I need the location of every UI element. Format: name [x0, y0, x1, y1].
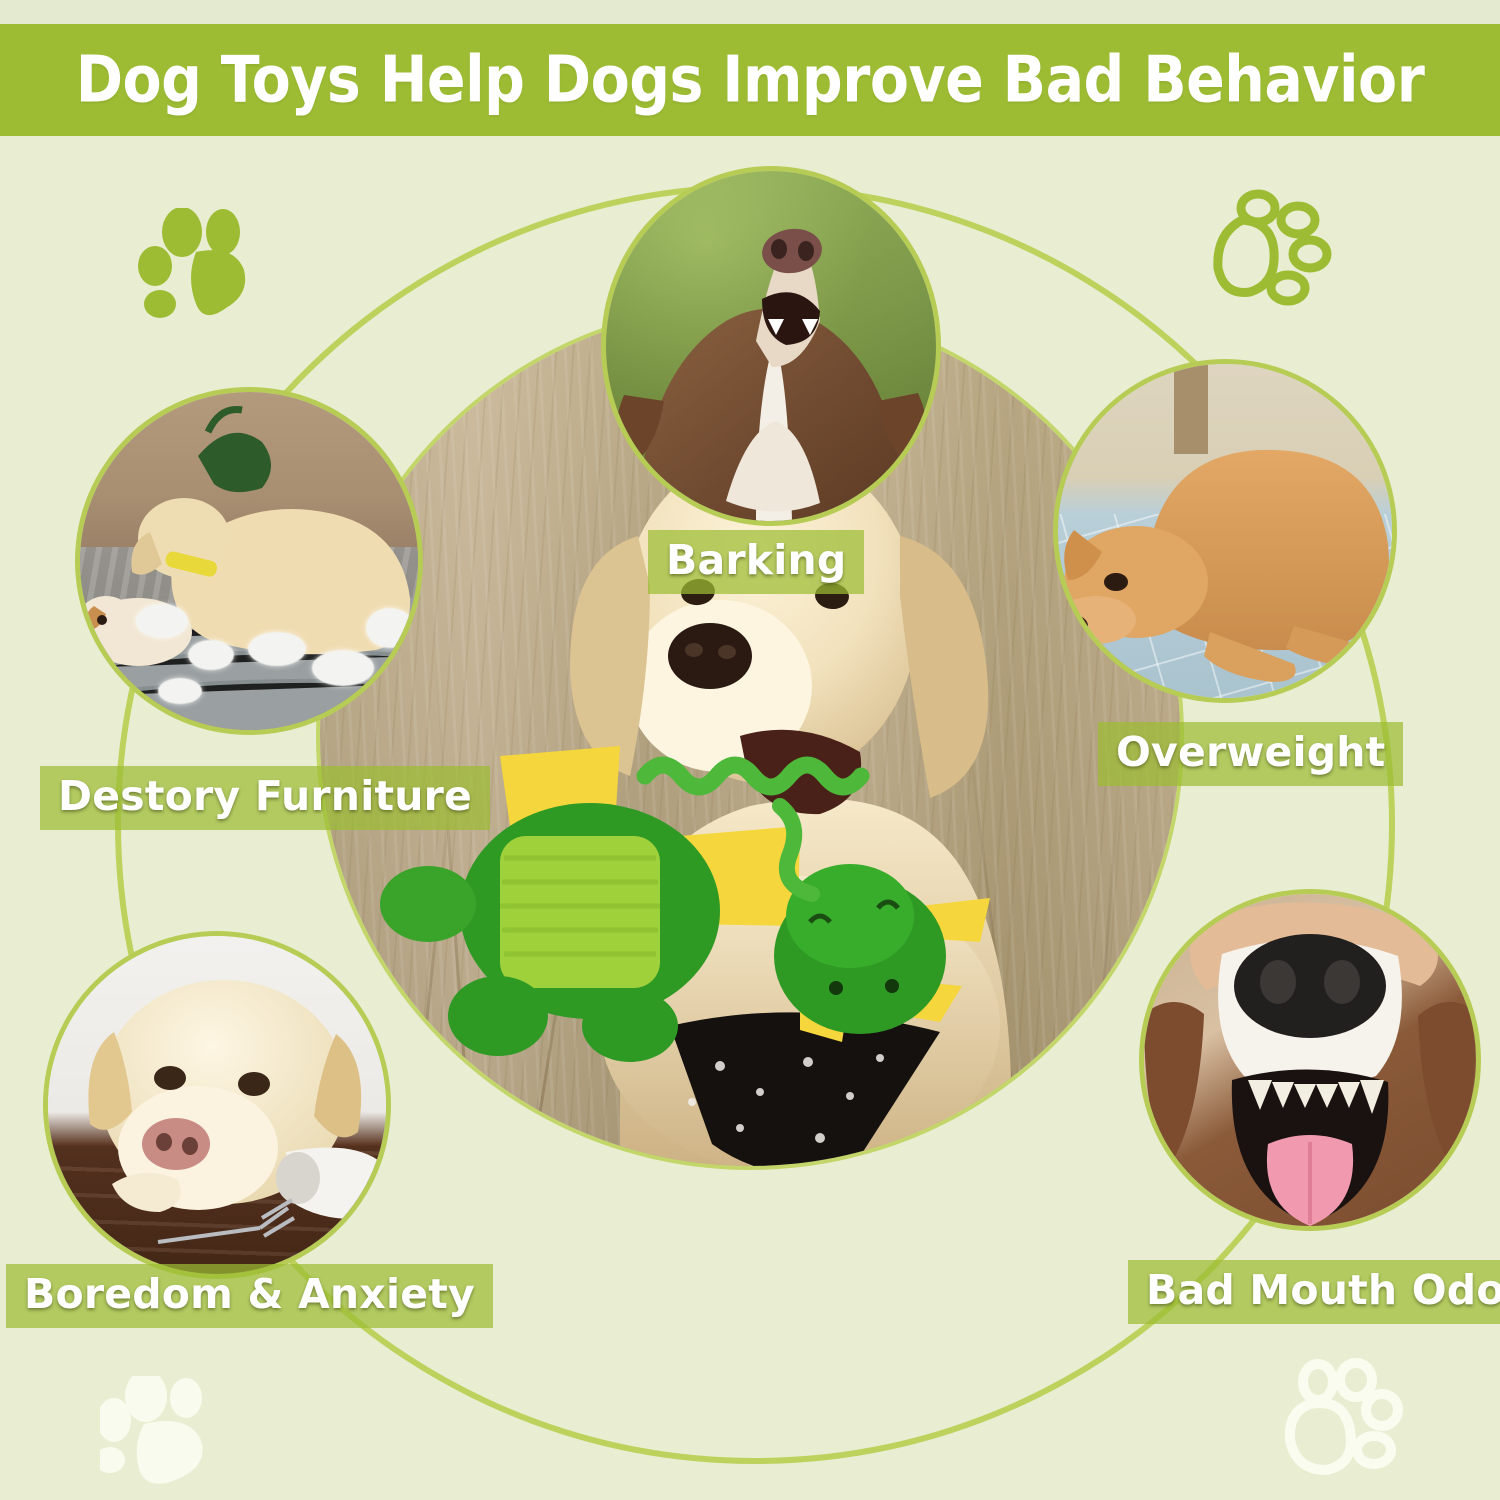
overweight-dog-illustration: [1058, 364, 1392, 698]
barking-dog-illustration: [606, 171, 936, 521]
callout-photo-bad-mouth-odor: [1144, 894, 1476, 1226]
top-margin-strip: [0, 0, 1500, 24]
cushion-stuffing: [158, 678, 202, 704]
callout-label-bad-mouth-odor: Bad Mouth Odor: [1128, 1260, 1500, 1324]
infographic-root: Dog Toys Help Dogs Improve Bad Behavior: [0, 0, 1500, 1500]
callout-label-boredom-anxiety: Boredom & Anxiety: [6, 1264, 493, 1328]
paw-print-icon: [138, 208, 264, 324]
cushion-stuffing: [188, 640, 234, 670]
paw-print-icon: [100, 1376, 232, 1494]
callout-photo-barking: [606, 171, 936, 521]
callout-photo-overweight: [1058, 364, 1392, 698]
dog-mouth-teeth-illustration: [1144, 894, 1476, 1226]
cushion-stuffing: [136, 604, 188, 638]
dogs-destroying-cushion-illustration: [80, 392, 418, 730]
header-banner: Dog Toys Help Dogs Improve Bad Behavior: [0, 24, 1500, 136]
callout-photo-boredom-anxiety: [48, 936, 386, 1274]
page-title: Dog Toys Help Dogs Improve Bad Behavior: [76, 43, 1425, 117]
cushion-stuffing: [366, 608, 414, 648]
infographic-canvas: Barking: [0, 136, 1500, 1500]
callout-label-overweight: Overweight: [1098, 722, 1403, 786]
paw-print-icon: [1198, 188, 1334, 312]
callout-label-barking: Barking: [648, 530, 864, 594]
callout-photo-destory-furniture: [80, 392, 418, 730]
bored-labrador-illustration: [48, 936, 386, 1274]
paw-print-icon: [1264, 1358, 1410, 1490]
plush-dinosaur-toy: [380, 686, 1000, 1106]
callout-label-destory-furniture: Destory Furniture: [40, 766, 490, 830]
cushion-stuffing: [248, 632, 306, 666]
cushion-stuffing: [312, 650, 374, 686]
